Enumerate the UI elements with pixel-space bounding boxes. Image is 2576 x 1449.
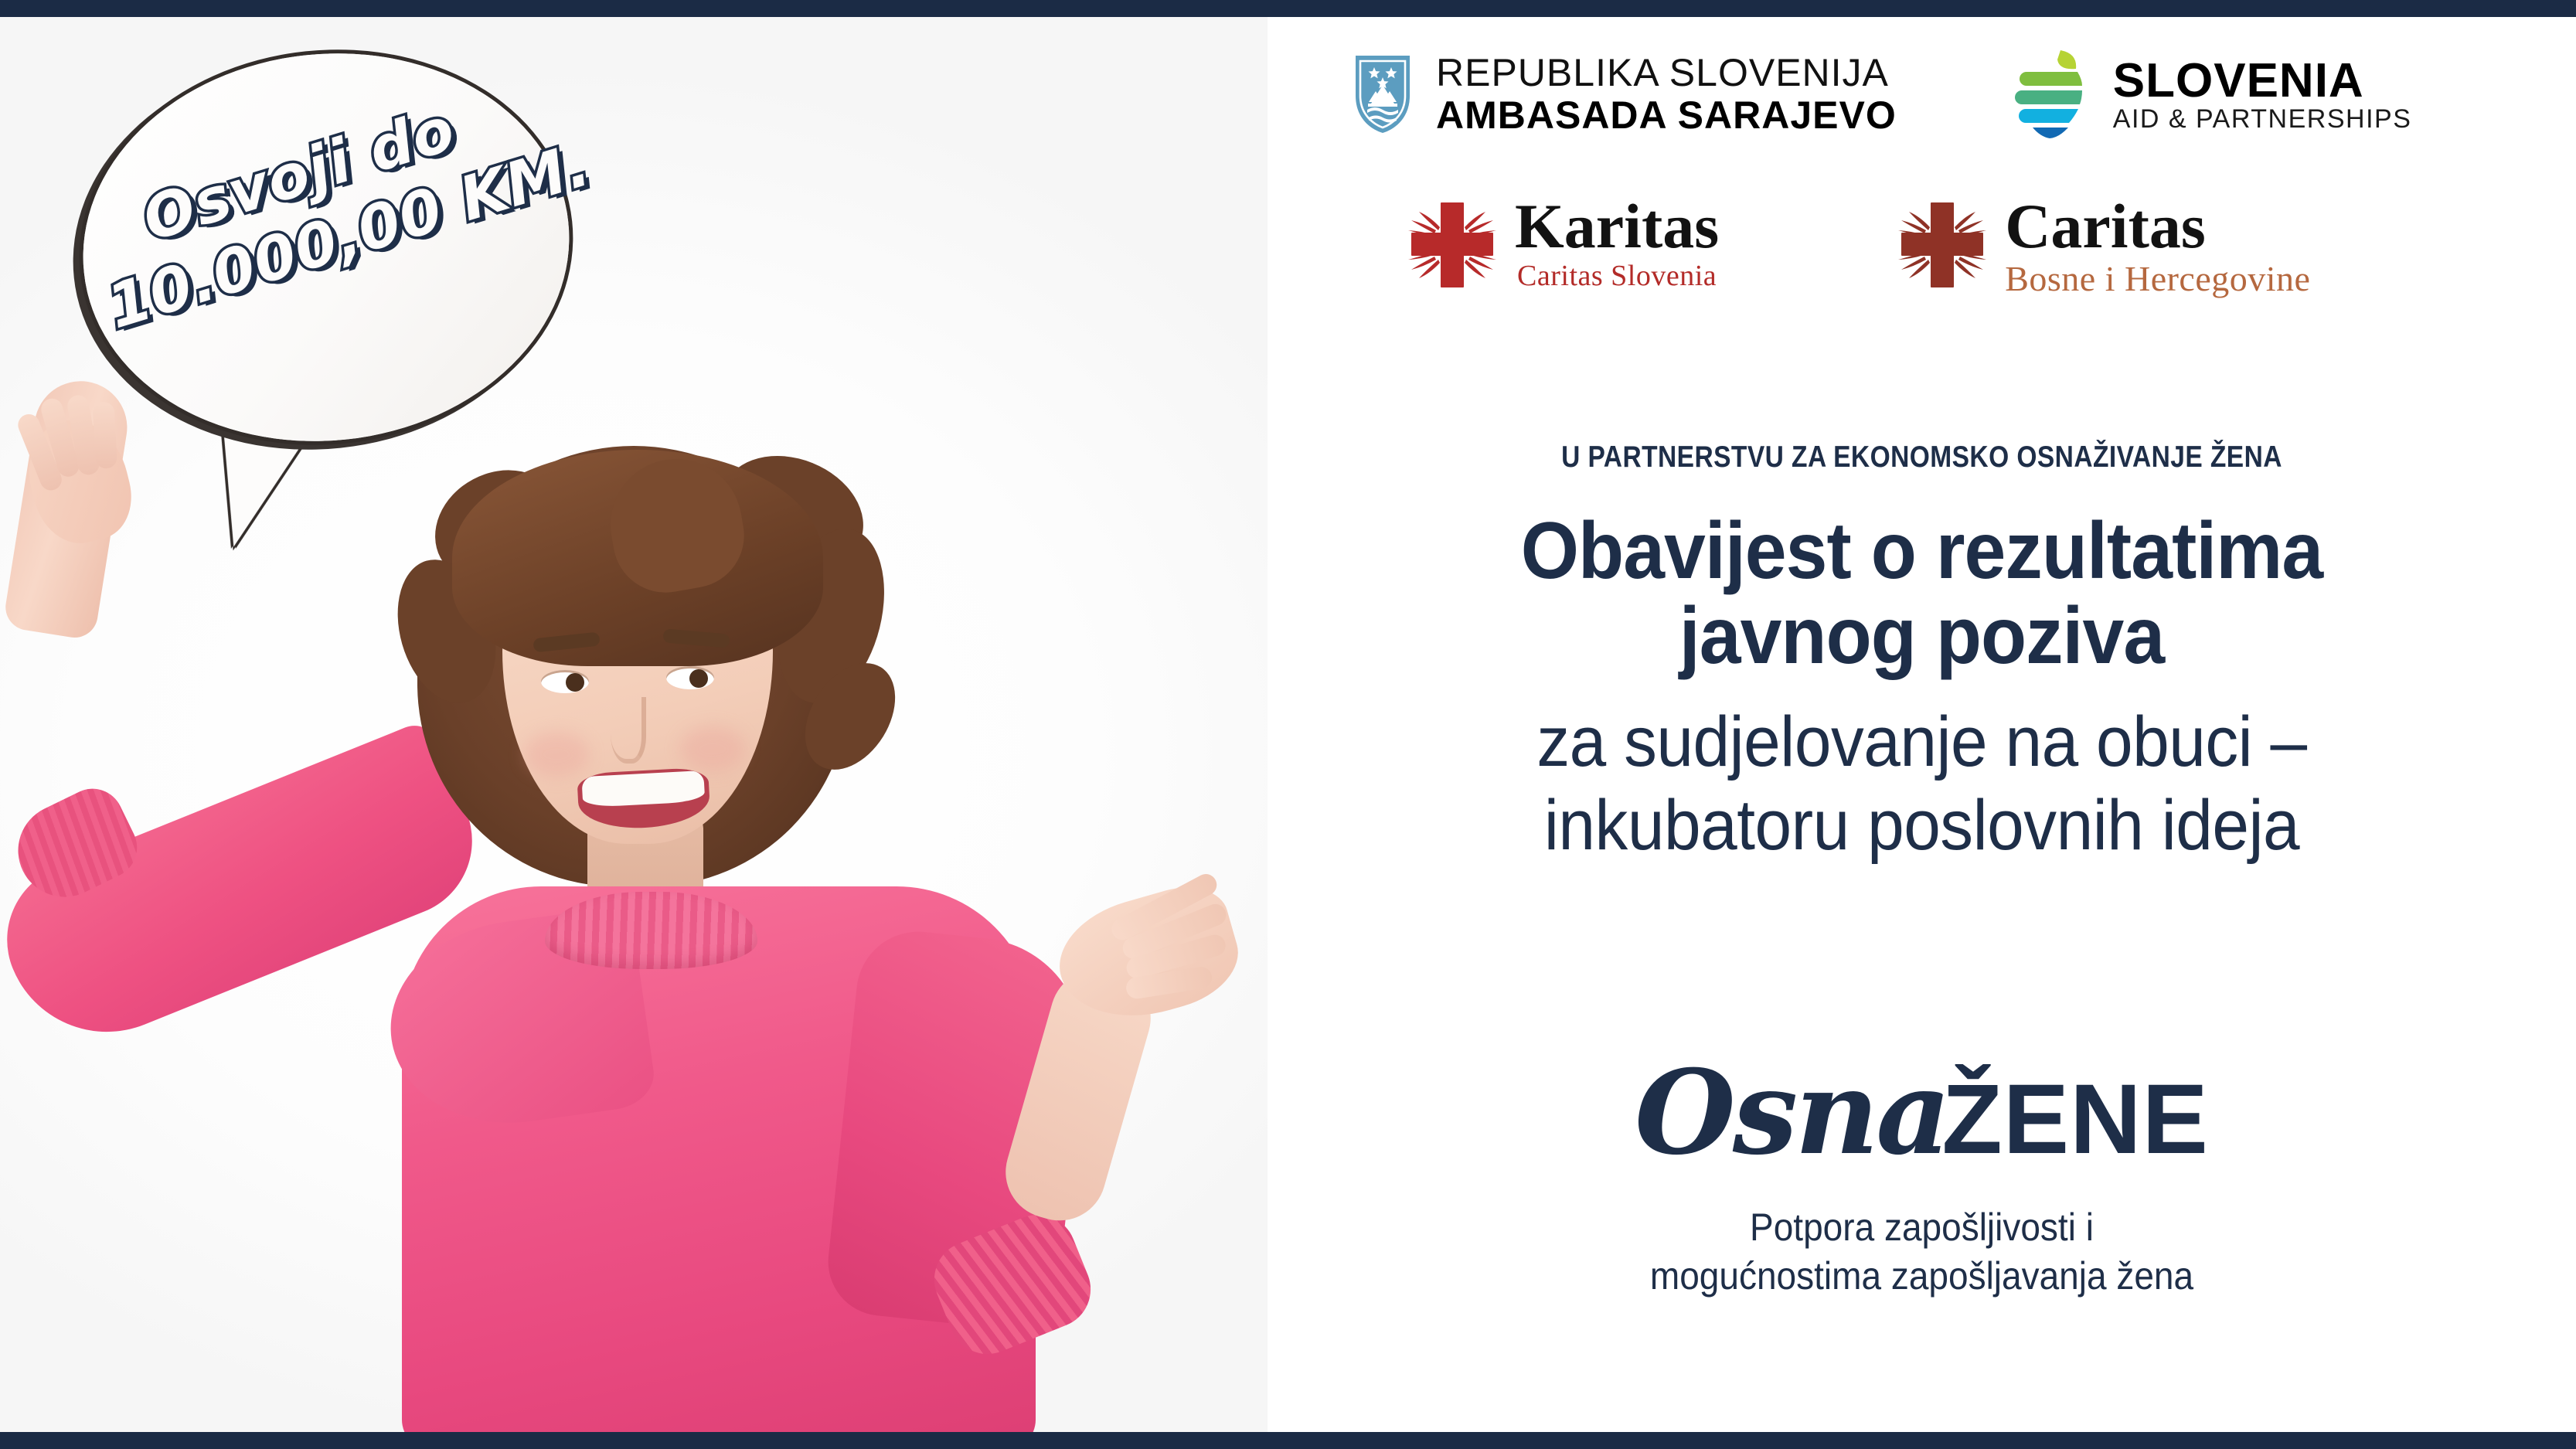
logo-caritas-bih: Caritas Bosne i Hercegovine [1897, 195, 2310, 297]
page-subtitle: za sudjelovanje na obuci – inkubatoru po… [1313, 701, 2530, 867]
subhead-line-2: inkubatoru poslovnih ideja [1313, 784, 2530, 868]
speech-bubble-body [60, 26, 593, 469]
pupil [566, 673, 584, 692]
caritas-slovenia-name: Karitas [1515, 195, 1719, 258]
aid-wordmark: SLOVENIA AID & PARTNERSHIPS [2113, 56, 2412, 134]
top-accent-bar [0, 0, 2576, 17]
caritas-bih-sub: Bosne i Hercegovine [2005, 261, 2310, 297]
pupil [689, 669, 708, 688]
teeth [581, 770, 705, 808]
eye [666, 666, 714, 689]
caritas-flame-cross-icon [1897, 199, 1988, 291]
brand-tagline: Potpora zapošljivosti i mogućnostima zap… [1320, 1203, 2524, 1301]
logo-slovenia-aid: SLOVENIA AID & PARTNERSHIPS [2013, 49, 2412, 140]
aid-line-2: AID & PARTNERSHIPS [2113, 106, 2412, 134]
osnazene-brand-logo: OsnaŽENE [1268, 1045, 2576, 1181]
speech-bubble-sheen [64, 29, 589, 464]
logo-row-caritas: Karitas Caritas Slovenia [1268, 195, 2576, 349]
brand-tagline-line-1: Potpora zapošljivosti i [1320, 1203, 2524, 1252]
caritas-slovenia-sub: Caritas Slovenia [1515, 261, 1719, 291]
logo-caritas-slovenia: Karitas Caritas Slovenia [1407, 195, 1719, 291]
caritas-flame-cross-icon [1407, 199, 1498, 291]
government-line-1: REPUBLIKA SLOVENIJA [1436, 52, 1897, 94]
caritas-bih-wordmark: Caritas Bosne i Hercegovine [2005, 195, 2310, 297]
brand-bold-part: ŽENE [1942, 1064, 2209, 1175]
partnership-kicker: U PARTNERSTVU ZA EKONOMSKO OSNAŽIVANJE Ž… [1359, 440, 2485, 474]
cheek [524, 732, 589, 777]
hero-photo: Osvoji do 10.000,00 KM. [0, 17, 1268, 1432]
slovenia-coat-of-arms-icon [1353, 53, 1413, 136]
caritas-bih-name: Caritas [2005, 195, 2310, 258]
brand-script-part: Osna [1635, 1045, 1948, 1181]
speech-bubble-placard: Osvoji do 10.000,00 KM. [62, 44, 618, 539]
poster-root: Osvoji do 10.000,00 KM. [0, 0, 2576, 1449]
brand-tagline-line-2: mogućnostima zapošljavanja žena [1320, 1252, 2524, 1301]
page-title: Obavijest o rezultatima javnog poziva [1313, 509, 2530, 679]
headline-line-2: javnog poziva [1313, 594, 2530, 679]
caritas-slovenia-wordmark: Karitas Caritas Slovenia [1515, 195, 1719, 291]
nose [611, 697, 646, 764]
bottom-accent-bar [0, 1432, 2576, 1449]
headline-line-1: Obavijest o rezultatima [1313, 509, 2530, 594]
logo-slovenia-government: REPUBLIKA SLOVENIJA AMBASADA SARAJEVO [1353, 52, 1897, 137]
logo-row-primary: REPUBLIKA SLOVENIJA AMBASADA SARAJEVO SL… [1268, 25, 2576, 164]
subhead-line-1: za sudjelovanje na obuci – [1313, 701, 2530, 784]
government-line-2: AMBASADA SARAJEVO [1436, 94, 1897, 137]
government-wordmark: REPUBLIKA SLOVENIJA AMBASADA SARAJEVO [1436, 52, 1897, 137]
aid-line-1: SLOVENIA [2113, 56, 2412, 106]
cheek [680, 726, 745, 771]
content-column: REPUBLIKA SLOVENIJA AMBASADA SARAJEVO SL… [1268, 17, 2576, 1432]
eye [541, 670, 589, 693]
slovenia-aid-mark-icon [2013, 49, 2093, 140]
